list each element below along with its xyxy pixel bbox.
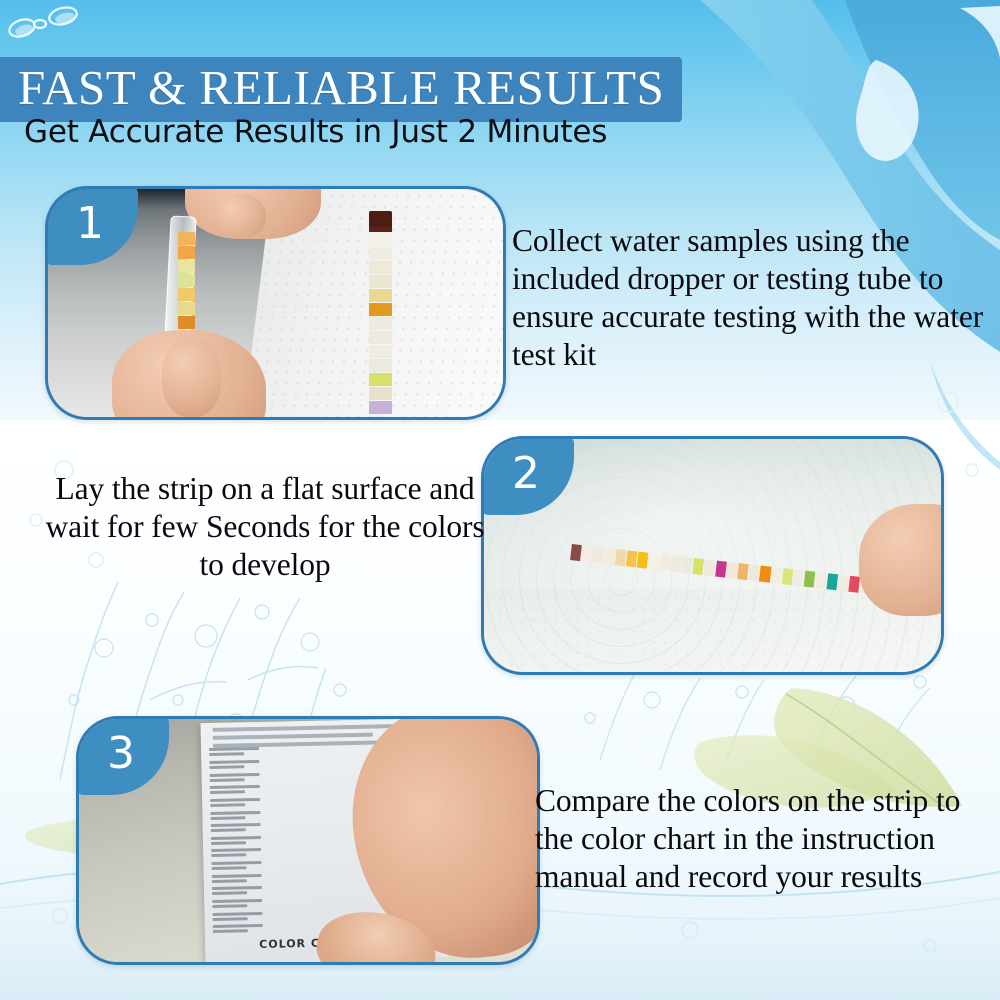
color-chart-row-label	[211, 848, 260, 860]
step-1-photo: 1	[45, 186, 506, 420]
color-chart-row-label	[212, 873, 261, 885]
color-chart-row-label	[210, 784, 259, 796]
thumb-bottom	[162, 339, 221, 417]
water-droplets-left	[69, 605, 346, 730]
color-chart-row-label	[212, 885, 261, 897]
step-1-instruction-text: Collect water samples using the included…	[512, 222, 992, 374]
towel-test-strip	[369, 219, 392, 414]
color-chart-row-label	[210, 810, 259, 822]
step-1-number: 1	[76, 202, 108, 250]
color-chart-row-label	[209, 759, 258, 771]
infographic-canvas: FAST & RELIABLE RESULTS Get Accurate Res…	[0, 0, 1000, 1000]
step-2-number: 2	[512, 452, 544, 500]
color-chart-row-label	[211, 860, 260, 872]
color-chart-row-label	[210, 822, 259, 834]
header-title-banner: FAST & RELIABLE RESULTS	[0, 57, 682, 122]
page-title: FAST & RELIABLE RESULTS	[18, 63, 664, 112]
step-3-number: 3	[107, 732, 139, 780]
color-chart-row-label	[210, 797, 259, 809]
color-chart-row-label	[209, 746, 258, 758]
booklet-heading-lines	[213, 724, 399, 745]
step-3-instruction-text: Compare the colors on the strip to the c…	[535, 782, 985, 896]
step-3-photo: COLOR CHART 3	[76, 716, 540, 965]
step-2-instruction-text: Lay the strip on a flat surface and wait…	[45, 470, 485, 584]
step-2-photo: 2	[481, 436, 944, 675]
towel-strip-end-pad	[369, 211, 392, 227]
finger-top	[212, 194, 267, 240]
color-chart-row-label	[211, 835, 260, 847]
color-chart-row-label	[209, 772, 258, 784]
color-chart-row-label	[212, 898, 261, 910]
color-chart-row-label	[213, 923, 262, 935]
color-chart-row-label	[212, 911, 261, 923]
page-subtitle: Get Accurate Results in Just 2 Minutes	[24, 117, 607, 148]
